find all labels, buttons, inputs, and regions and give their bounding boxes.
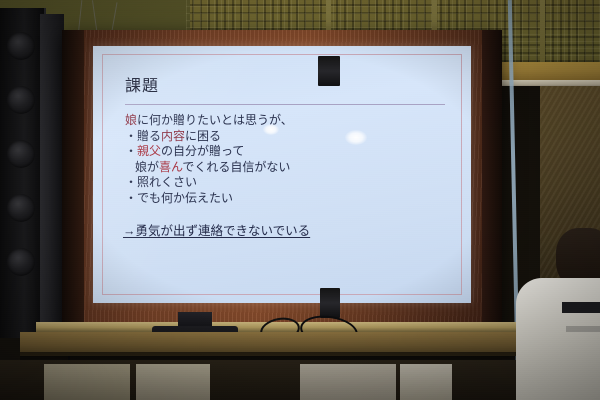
- speaker-driver-3: [7, 140, 35, 168]
- slide-body-segment: に困る: [185, 129, 221, 143]
- slide-body-text: 娘に何か贈りたいとは思うが、・贈る内容に困る・親父の自分が贈って娘が喜んでくれる…: [125, 113, 449, 206]
- slide-body-line: ・でも何か伝えたい: [125, 191, 449, 207]
- slide-body-segment: 内容: [161, 129, 185, 143]
- slide-body-segment: でくれる自信がない: [182, 160, 290, 174]
- slide-body-segment: の自分が贈って: [161, 144, 244, 158]
- slide-body-segment: 娘が: [135, 160, 159, 174]
- tv-bezel-right: [482, 30, 502, 330]
- presentation-slide: 課題 娘に何か贈りたいとは思うが、・贈る内容に困る・親父の自分が贈って娘が喜んで…: [93, 46, 471, 303]
- speaker-driver-2: [7, 86, 35, 114]
- slide-content: 課題 娘に何か贈りたいとは思うが、・贈る内容に困る・親父の自分が贈って娘が喜んで…: [123, 72, 449, 289]
- slide-body-line: ・贈る内容に困る: [125, 129, 449, 145]
- slide-body-segment: 娘: [125, 113, 137, 127]
- slide-body-segment: 親父: [137, 144, 161, 158]
- slide-body-line: 娘に何か贈りたいとは思うが、: [125, 113, 449, 129]
- photo-scene: 課題 娘に何か贈りたいとは思うが、・贈る内容に困る・親父の自分が贈って娘が喜んで…: [0, 0, 600, 400]
- screen-clip-top: [318, 56, 340, 86]
- slide-body-segment: ・照れくさい: [125, 175, 197, 189]
- stored-box-3: [300, 364, 396, 400]
- slide-title: 課題: [125, 72, 449, 96]
- pegboard-divider-3: [540, 0, 545, 70]
- stored-box-2: [136, 364, 210, 400]
- speaker-driver-5: [7, 248, 35, 276]
- slide-body-line: ・親父の自分が贈って: [125, 144, 449, 160]
- speaker-side-panel: [40, 14, 64, 334]
- person-shirt-stripe: [562, 302, 600, 313]
- slide-title-rule: [125, 104, 445, 105]
- speaker-driver-4: [7, 194, 35, 222]
- slide-body-segment: に何か贈りたいとは思うが、: [137, 113, 293, 127]
- slide-body-segment: ・でも何か伝えたい: [125, 191, 233, 205]
- speaker-driver-1: [7, 32, 35, 60]
- slide-body-line: ・照れくさい: [125, 175, 449, 191]
- slide-conclusion: →勇気が出ず連絡できないでいる: [123, 220, 449, 239]
- slide-body-segment: ・贈る: [125, 129, 161, 143]
- stored-box-4: [400, 364, 452, 400]
- slide-body-segment: ・: [125, 144, 137, 158]
- person-shirt: [516, 278, 600, 400]
- slide-body-line: 娘が喜んでくれる自信がない: [125, 160, 449, 176]
- stored-box-1: [44, 364, 130, 400]
- screen-clip-bottom: [320, 288, 340, 318]
- person-shirt-stripe-secondary: [566, 326, 600, 332]
- slide-body-segment: 喜ん: [159, 160, 182, 174]
- tv-bezel-left: [62, 30, 84, 330]
